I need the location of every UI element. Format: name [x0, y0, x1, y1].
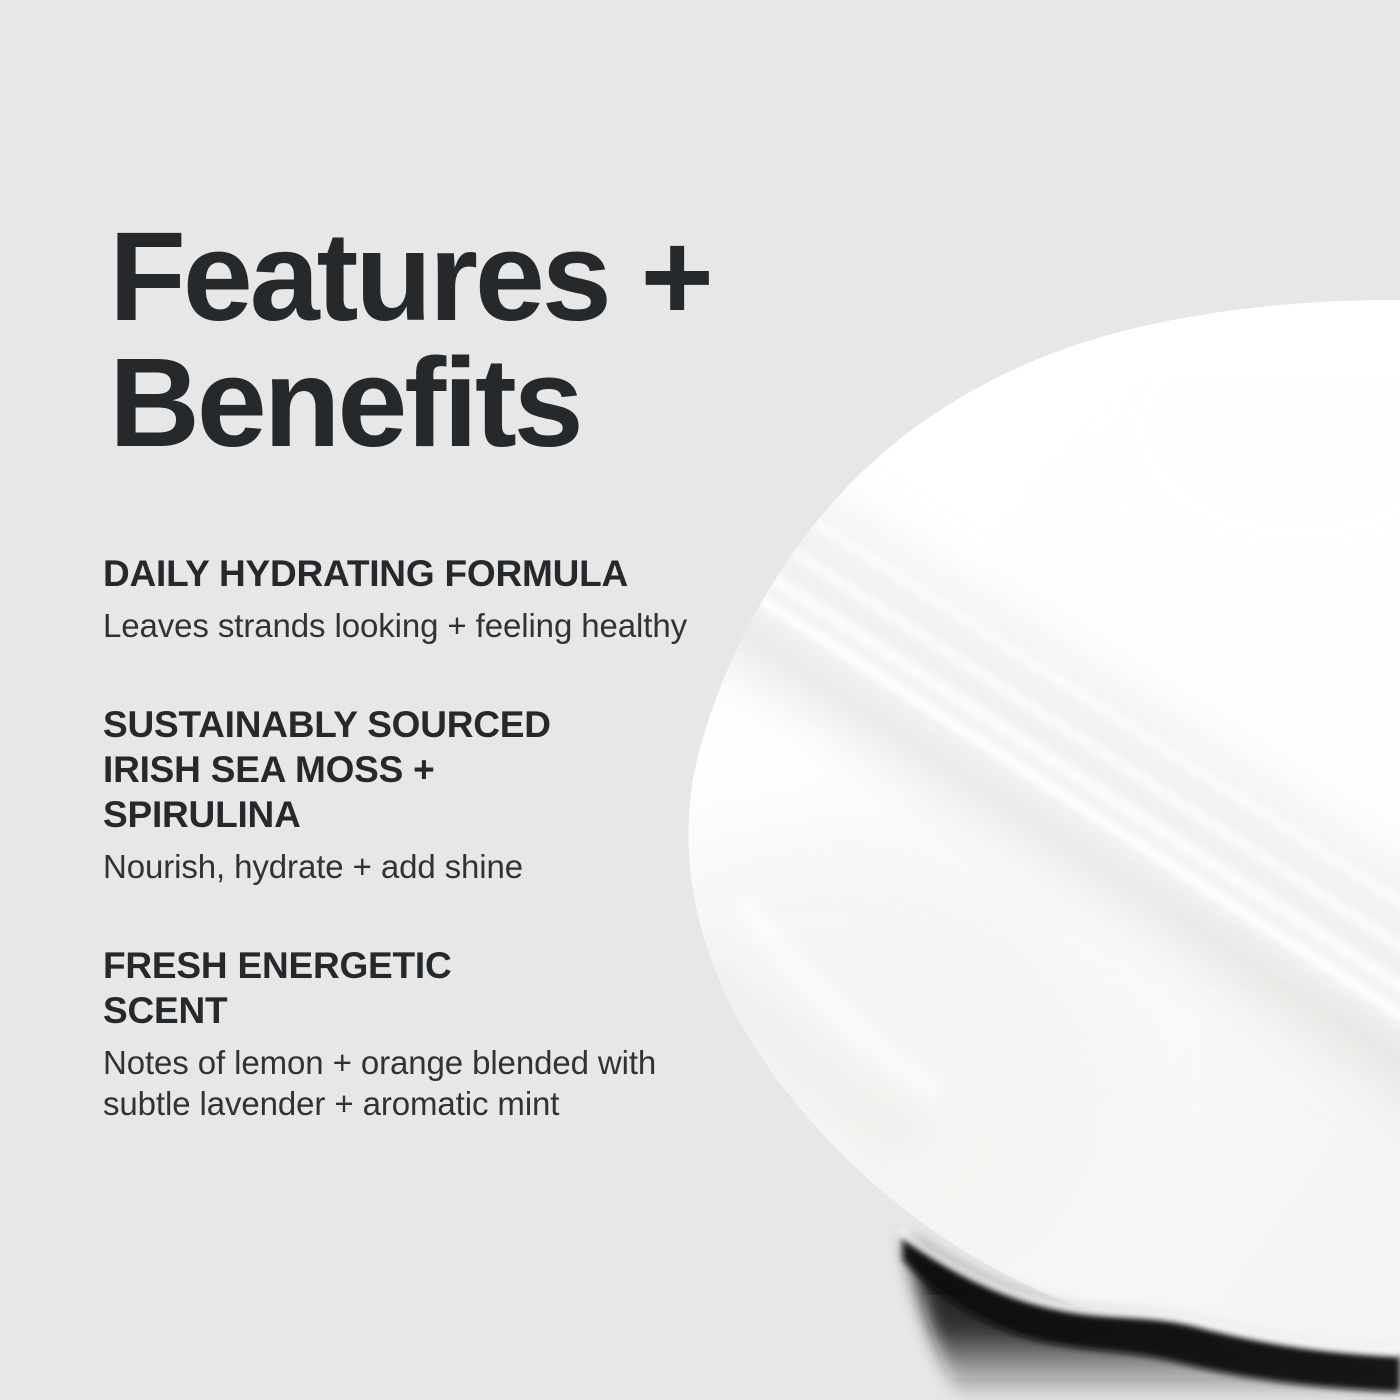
feature-item: SUSTAINABLY SOURCED IRISH SEA MOSS + SPI…	[103, 702, 753, 887]
feature-description: Notes of lemon + orange blended with sub…	[103, 1042, 753, 1124]
feature-title: SUSTAINABLY SOURCED IRISH SEA MOSS + SPI…	[103, 702, 753, 837]
feature-title: DAILY HYDRATING FORMULA	[103, 551, 753, 596]
feature-item: FRESH ENERGETIC SCENT Notes of lemon + o…	[103, 943, 753, 1124]
feature-description: Leaves strands looking + feeling healthy	[103, 605, 753, 646]
feature-description: Nourish, hydrate + add shine	[103, 846, 753, 887]
feature-title: FRESH ENERGETIC SCENT	[103, 943, 753, 1033]
text-column: Features + Benefits DAILY HYDRATING FORM…	[0, 0, 760, 1400]
feature-item: DAILY HYDRATING FORMULA Leaves strands l…	[103, 551, 753, 646]
page-title: Features + Benefits	[109, 214, 711, 466]
product-feature-card: Features + Benefits DAILY HYDRATING FORM…	[0, 0, 1400, 1400]
feature-list: DAILY HYDRATING FORMULA Leaves strands l…	[103, 551, 753, 1124]
